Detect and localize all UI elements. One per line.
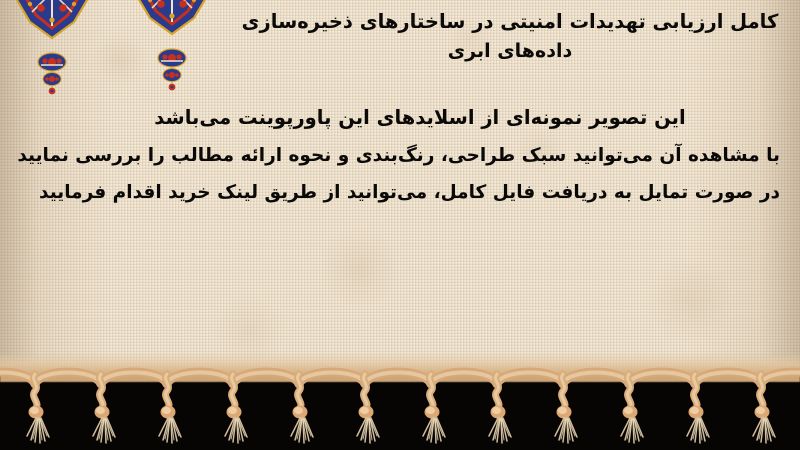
slide-canvas: کامل ارزیابی تهدیدات امنیتی در ساختارهای… [0,0,800,450]
slide-body-line-3: در صورت تمایل به دریافت فایل کامل، می‌تو… [60,184,780,203]
slide-body-line-2: با مشاهده آن می‌توانید سبک طراحی، رنگ‌بن… [60,147,780,166]
slide-title: کامل ارزیابی تهدیدات امنیتی در ساختارهای… [230,7,790,67]
carpet-fringe-zone [0,352,800,450]
slide-title-line-2: داده‌های ابری [230,37,790,66]
slide-body-line-1: این تصویر نمونه‌ای از اسلایدهای این پاور… [60,108,780,128]
slide-body-text: این تصویر نمونه‌ای از اسلایدهای این پاور… [60,108,780,203]
slide-title-line-1: کامل ارزیابی تهدیدات امنیتی در ساختارهای… [230,7,790,37]
fringe-tassel-row [0,372,800,443]
fringe-tassels-svg [0,352,800,450]
slide-text-layer: کامل ارزیابی تهدیدات امنیتی در ساختارهای… [0,0,800,374]
